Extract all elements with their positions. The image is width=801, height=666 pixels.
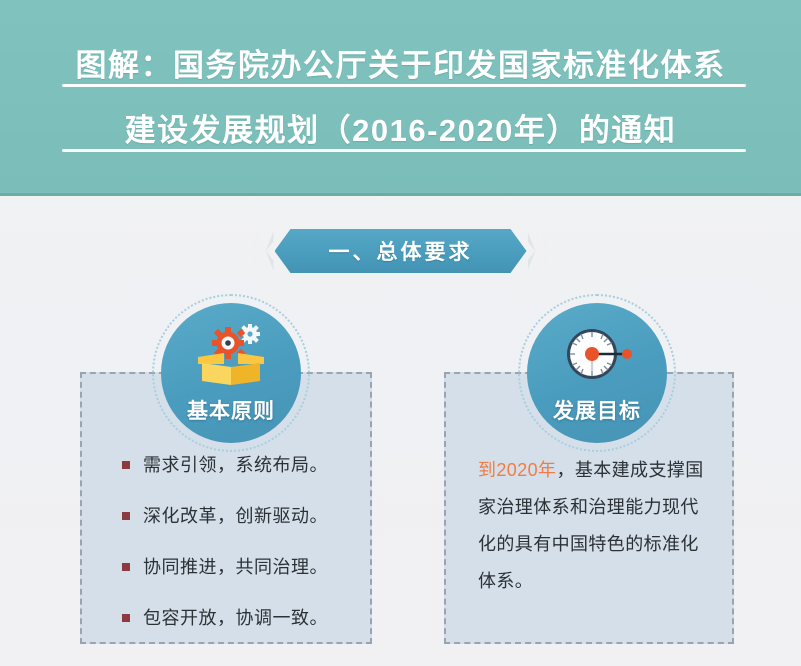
- infographic-page: 图解：国务院办公厅关于印发国家标准化体系 建设发展规划（2016-2020年）的…: [0, 0, 801, 666]
- page-title-line-1: 图解：国务院办公厅关于印发国家标准化体系: [0, 40, 801, 85]
- bullet-square-icon: [122, 563, 130, 571]
- title-underline-2: [62, 149, 746, 152]
- list-item: 协同推进，共同治理。: [122, 554, 372, 580]
- list-item-label: 需求引领，系统布局。: [143, 452, 328, 478]
- badge-label-development-goals: 发展目标: [553, 395, 641, 425]
- list-item: 包容开放，协调一致。: [122, 605, 372, 631]
- list-item: 需求引领，系统布局。: [122, 452, 372, 478]
- badge-development-goals: 发展目标: [527, 303, 667, 443]
- page-title-line-2: 建设发展规划（2016-2020年）的通知: [0, 105, 801, 150]
- development-goals-paragraph: 到2020年，基本建成支撑国家治理体系和治理能力现代化的具有中国特色的标准化体系…: [478, 452, 708, 600]
- bullet-square-icon: [122, 614, 130, 622]
- bullet-square-icon: [122, 512, 130, 520]
- list-item: 深化改革，创新驱动。: [122, 503, 372, 529]
- chevron-right-icon: [528, 231, 541, 271]
- target-gauge-icon: [560, 323, 634, 385]
- list-item-label: 深化改革，创新驱动。: [143, 503, 328, 529]
- list-item-label: 包容开放，协调一致。: [143, 605, 328, 631]
- chevron-left-group: [245, 229, 275, 273]
- principles-list: 需求引领，系统布局。 深化改革，创新驱动。 协同推进，共同治理。 包容开放，协调…: [122, 452, 372, 656]
- section-banner-plate: 一、总体要求: [275, 229, 527, 273]
- section-banner-label: 一、总体要求: [329, 236, 473, 266]
- section-banner-wrap: 一、总体要求: [245, 225, 557, 277]
- list-item-label: 协同推进，共同治理。: [143, 554, 328, 580]
- chevron-left-icon: [261, 231, 274, 271]
- chevron-right-group: [527, 229, 557, 273]
- badge-basic-principles: 基本原则: [161, 303, 301, 443]
- badge-label-basic-principles: 基本原则: [187, 395, 275, 425]
- chevron-right-icon: [543, 231, 556, 271]
- section-banner: 一、总体要求: [0, 225, 801, 277]
- title-underline-1: [62, 84, 746, 87]
- open-box-with-gears-icon: [194, 323, 268, 385]
- bullet-square-icon: [122, 461, 130, 469]
- header-band: 图解：国务院办公厅关于印发国家标准化体系 建设发展规划（2016-2020年）的…: [0, 0, 801, 196]
- goal-year-highlight: 到2020年: [478, 460, 556, 480]
- chevron-left-icon: [246, 231, 259, 271]
